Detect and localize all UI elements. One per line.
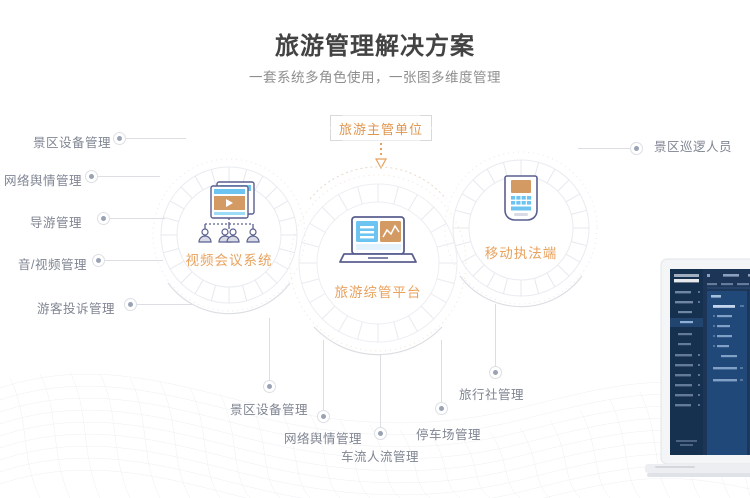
left-item-line-2 — [110, 218, 165, 219]
left-item-label-4[interactable]: 游客投诉管理 — [37, 298, 115, 317]
left-item-dot-3[interactable] — [92, 254, 105, 267]
left-item-line-3 — [105, 260, 163, 261]
node-label-mobile-enforcement: 移动执法端 — [441, 242, 601, 262]
node-label-core-platform: 旅游综管平台 — [298, 281, 458, 301]
video-conference-icon — [184, 177, 274, 247]
bottom-item-dot-0[interactable] — [263, 380, 276, 393]
laptop-mockup[interactable] — [645, 255, 750, 498]
bottom-item-line-1 — [323, 340, 324, 410]
bottom-item-line-0 — [269, 318, 270, 380]
left-item-dot-1[interactable] — [85, 170, 98, 183]
bottom-item-dot-3[interactable] — [435, 402, 448, 415]
right-item-line-0 — [578, 148, 630, 149]
left-item-label-1[interactable]: 网络舆情管理 — [4, 170, 82, 189]
left-item-dot-0[interactable] — [113, 132, 126, 145]
bottom-item-dot-1[interactable] — [317, 410, 330, 423]
bottom-item-label-4[interactable]: 旅行社管理 — [459, 384, 524, 403]
bottom-item-line-2 — [380, 355, 381, 427]
node-label-video-conference: 视频会议系统 — [149, 249, 309, 269]
left-item-dot-4[interactable] — [124, 298, 137, 311]
bottom-item-dot-4[interactable] — [489, 366, 502, 379]
left-item-label-3[interactable]: 音/视频管理 — [18, 254, 87, 273]
left-item-label-2[interactable]: 导游管理 — [30, 212, 82, 231]
bottom-item-line-3 — [441, 340, 442, 402]
left-item-line-1 — [98, 176, 160, 177]
infographic-canvas: 旅游管理解决方案 一套系统多角色使用，一张图多维度管理 旅游主管单位 — [0, 0, 750, 498]
bottom-item-label-2[interactable]: 车流人流管理 — [341, 446, 419, 465]
bottom-item-dot-2[interactable] — [374, 427, 387, 440]
bottom-item-line-4 — [495, 304, 496, 366]
bottom-item-label-3[interactable]: 停车场管理 — [416, 424, 481, 443]
left-item-dot-2[interactable] — [97, 212, 110, 225]
right-item-label-0[interactable]: 景区巡逻人员 — [654, 136, 732, 155]
left-item-line-0 — [126, 138, 186, 139]
left-item-line-4 — [137, 304, 192, 305]
bottom-item-label-0[interactable]: 景区设备管理 — [230, 399, 308, 418]
mobile-device-icon — [489, 170, 553, 232]
right-item-dot-0[interactable] — [630, 142, 643, 155]
laptop-dashboard-icon — [330, 213, 426, 275]
left-item-label-0[interactable]: 景区设备管理 — [33, 132, 111, 151]
bottom-item-label-1[interactable]: 网络舆情管理 — [284, 428, 362, 447]
